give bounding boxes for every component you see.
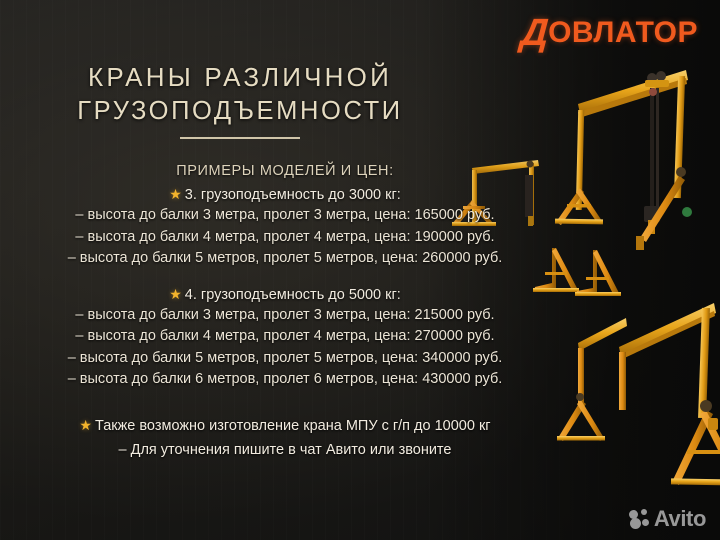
crane-large-lower [619, 303, 720, 486]
title-line-2: ГРУЗОПОДЪЕМНОСТИ [0, 94, 480, 128]
contact-note: ★Также возможно изготовление крана МПУ с… [0, 413, 570, 462]
price-row: – высота до балки 6 метров, пролет 6 мет… [0, 369, 570, 391]
avito-logo-icon [629, 509, 651, 529]
custom-order-note: ★Также возможно изготовление крана МПУ с… [0, 413, 570, 438]
star-icon: ★ [79, 417, 92, 433]
logo-wordmark: ОВЛАТОР [548, 18, 698, 48]
price-row: – высота до балки 3 метра, пролет 3 метр… [0, 305, 570, 327]
price-list: ПРИМЕРЫ МОДЕЛЕЙ И ЦЕН: ★3. грузоподъемно… [0, 163, 570, 462]
price-group-2-title: ★4. грузоподъемность до 5000 кг: [0, 286, 570, 303]
star-icon: ★ [169, 186, 182, 202]
custom-order-text: Также возможно изготовление крана МПУ с … [95, 418, 491, 434]
brand-logo[interactable]: Д ОВЛАТОР [521, 14, 698, 52]
price-row: – высота до балки 5 метров, пролет 5 мет… [0, 248, 570, 270]
page-title: КРАНЫ РАЗЛИЧНОЙ ГРУЗОПОДЪЕМНОСТИ [0, 60, 480, 139]
star-icon: ★ [169, 286, 182, 302]
crane-small-right [575, 250, 621, 296]
contact-instruction: – Для уточнения пишите в чат Авито или з… [0, 438, 570, 462]
price-row: – высота до балки 4 метра, пролет 4 метр… [0, 326, 570, 348]
title-divider [180, 137, 300, 139]
group-spacer [0, 270, 570, 286]
title-line-1: КРАНЫ РАЗЛИЧНОЙ [0, 60, 480, 94]
price-group-1-label: 3. грузоподъемность до 3000 кг: [185, 187, 401, 203]
poster-canvas: Д ОВЛАТОР КРАНЫ РАЗЛИЧНОЙ ГРУЗОПОДЪЕМНОС… [0, 0, 720, 540]
price-list-subheading: ПРИМЕРЫ МОДЕЛЕЙ И ЦЕН: [0, 163, 570, 179]
price-group-2-label: 4. грузоподъемность до 5000 кг: [185, 287, 401, 303]
price-row: – высота до балки 4 метра, пролет 4 метр… [0, 227, 570, 249]
price-group-1-title: ★3. грузоподъемность до 3000 кг: [0, 186, 570, 203]
avito-wordmark: Avito [654, 508, 706, 530]
price-group-2: ★4. грузоподъемность до 5000 кг: – высот… [0, 286, 570, 391]
avito-watermark: Avito [629, 508, 706, 530]
price-row: – высота до балки 3 метра, пролет 3 метр… [0, 205, 570, 227]
price-row: – высота до балки 5 метров, пролет 5 мет… [0, 348, 570, 370]
crane-large-upper [555, 70, 692, 250]
logo-initial: Д [519, 14, 548, 52]
price-group-1: ★3. грузоподъемность до 3000 кг: – высот… [0, 186, 570, 270]
